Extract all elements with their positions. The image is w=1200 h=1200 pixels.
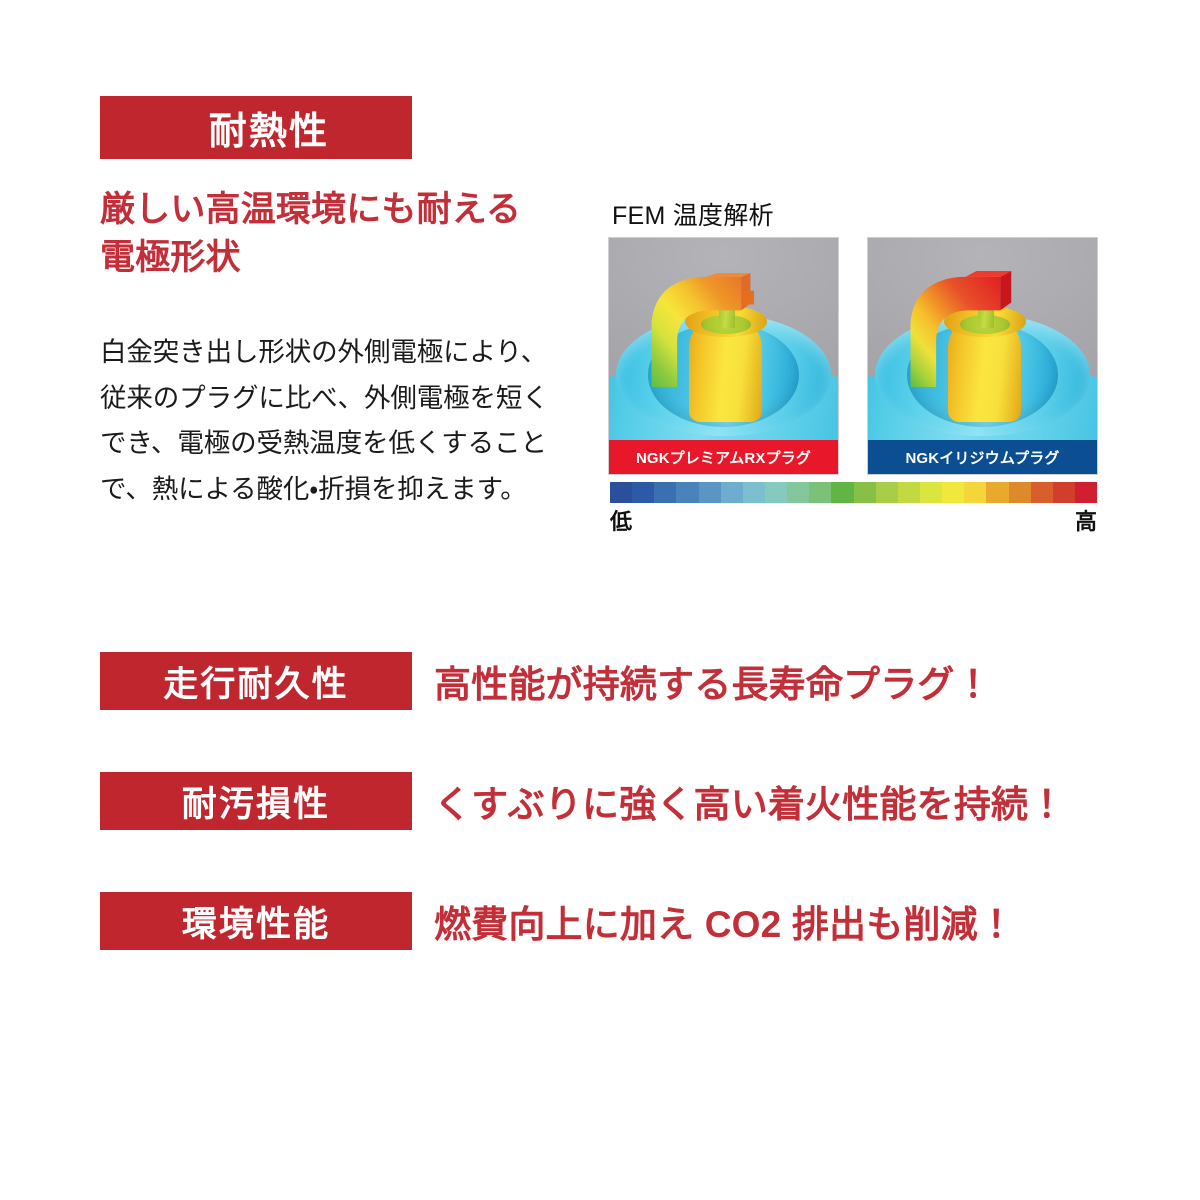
section-body-text: 白金突き出し形状の外側電極により、 従来のプラグに比べ、外側電極を短く でき、電… xyxy=(100,330,582,512)
ground-electrode-shape-iridium xyxy=(905,271,1015,389)
scale-swatch-12 xyxy=(876,482,898,503)
section-badge-label: 耐熱性 xyxy=(209,100,330,155)
feature-row-text: 燃費向上に加え CO2 排出も削減！ xyxy=(434,894,1015,948)
scale-swatch-11 xyxy=(854,482,876,503)
feature-rows-list: 走行耐久性 高性能が持続する長寿命プラグ！ 耐汚損性 くすぶりに強く高い着火性能… xyxy=(100,652,1100,950)
ground-electrode-shape-premium-rx xyxy=(646,271,756,389)
fem-panel-premium-rx: NGKプレミアムRXプラグ xyxy=(608,237,839,475)
scale-swatch-15 xyxy=(942,482,964,503)
scale-swatch-1 xyxy=(632,482,654,503)
body-line: 白金突き出し形状の外側電極により、 xyxy=(100,330,582,376)
scale-swatch-5 xyxy=(721,482,743,503)
fem-panel-caption-iridium: NGKイリジウムプラグ xyxy=(868,440,1097,474)
fem-panel-caption-premium-rx: NGKプレミアムRXプラグ xyxy=(609,440,838,474)
feature-row-text: 高性能が持続する長寿命プラグ！ xyxy=(434,654,992,708)
scale-swatch-20 xyxy=(1053,482,1075,503)
fem-panel-caption-label: NGKイリジウムプラグ xyxy=(905,447,1059,468)
feature-row: 耐汚損性 くすぶりに強く高い着火性能を持続！ xyxy=(100,772,1100,830)
feature-row: 走行耐久性 高性能が持続する長寿命プラグ！ xyxy=(100,652,1100,710)
scale-swatch-16 xyxy=(964,482,986,503)
feature-page: 耐熱性 厳しい高温環境にも耐える 電極形状 白金突き出し形状の外側電極により、 … xyxy=(0,0,1200,1200)
feature-row: 環境性能 燃費向上に加え CO2 排出も削減！ xyxy=(100,892,1100,950)
body-line: でき、電極の受熱温度を低くすること xyxy=(100,421,582,467)
section-heading-line-1: 厳しい高温環境にも耐える xyxy=(100,186,570,234)
feature-row-badge-driving-durability: 走行耐久性 xyxy=(100,652,412,710)
scale-swatch-6 xyxy=(743,482,765,503)
scale-label-low: 低 xyxy=(610,504,632,536)
scale-swatch-18 xyxy=(1009,482,1031,503)
scale-swatch-2 xyxy=(654,482,676,503)
body-line: で、熱による酸化・折損を抑えます。 xyxy=(100,467,582,513)
feature-row-text: くすぶりに強く高い着火性能を持続！ xyxy=(434,774,1065,828)
scale-swatch-7 xyxy=(765,482,787,503)
scale-swatch-8 xyxy=(787,482,809,503)
scale-swatch-21 xyxy=(1075,482,1097,503)
fem-panel-caption-label: NGKプレミアムRXプラグ xyxy=(636,447,811,468)
heat-resistance-section: 耐熱性 厳しい高温環境にも耐える 電極形状 白金突き出し形状の外側電極により、 … xyxy=(0,0,1200,600)
fem-thermal-render-iridium xyxy=(868,238,1097,474)
temperature-scale-labels: 低 高 xyxy=(610,504,1097,536)
scale-swatch-14 xyxy=(920,482,942,503)
feature-row-badge-label: 耐汚損性 xyxy=(182,776,330,827)
scale-swatch-19 xyxy=(1031,482,1053,503)
section-badge-heat-resistance: 耐熱性 xyxy=(100,96,412,159)
scale-label-high: 高 xyxy=(1075,504,1097,536)
feature-row-badge-environmental-performance: 環境性能 xyxy=(100,892,412,950)
scale-swatch-4 xyxy=(699,482,721,503)
fem-panel-group: NGKプレミアムRXプラグ xyxy=(608,237,1098,475)
fem-thermal-render-premium-rx xyxy=(609,238,838,474)
feature-row-badge-label: 環境性能 xyxy=(182,896,330,947)
section-heading: 厳しい高温環境にも耐える 電極形状 xyxy=(100,186,570,283)
body-line: 従来のプラグに比べ、外側電極を短く xyxy=(100,376,582,422)
temperature-color-scale xyxy=(610,482,1097,503)
scale-swatch-13 xyxy=(898,482,920,503)
section-heading-line-2: 電極形状 xyxy=(100,234,570,282)
scale-swatch-10 xyxy=(831,482,853,503)
scale-swatch-17 xyxy=(986,482,1008,503)
scale-swatch-3 xyxy=(676,482,698,503)
fem-panel-iridium: NGKイリジウムプラグ xyxy=(867,237,1098,475)
scale-swatch-9 xyxy=(809,482,831,503)
scale-swatch-0 xyxy=(610,482,632,503)
feature-row-badge-label: 走行耐久性 xyxy=(163,656,349,707)
fem-analysis-figure: FEM 温度解析 xyxy=(608,196,1098,526)
feature-row-badge-fouling-resistance: 耐汚損性 xyxy=(100,772,412,830)
fem-figure-title: FEM 温度解析 xyxy=(612,196,774,232)
